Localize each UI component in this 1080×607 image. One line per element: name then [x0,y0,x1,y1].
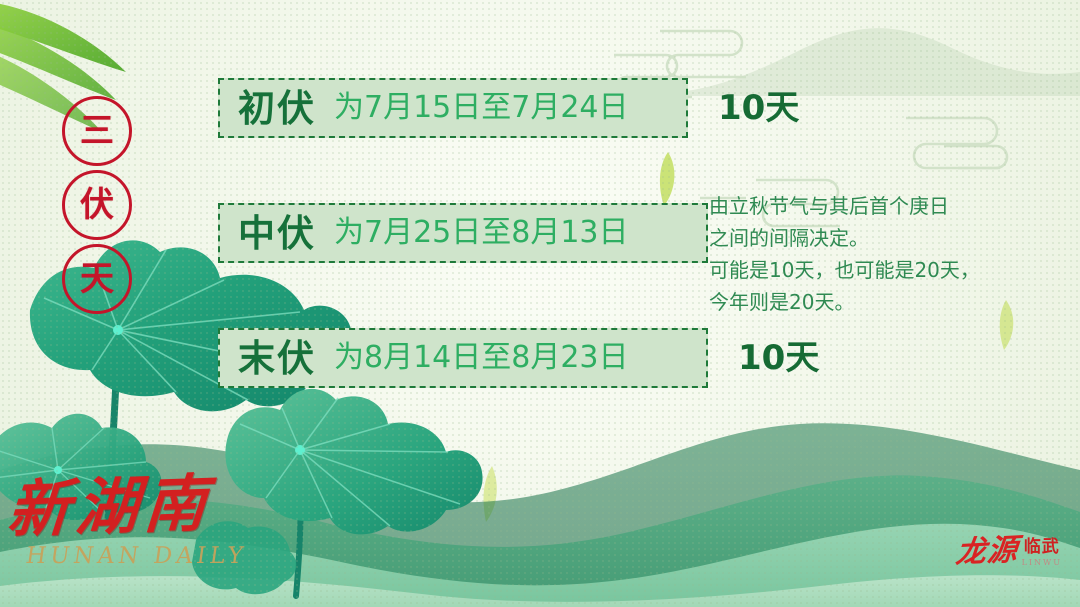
watermark-en-text: HUNAN DAILY [24,543,270,569]
watermark-longyuan-text: 龙源 [954,535,1019,568]
period-chip-chufu: 初伏 为7月15日至7月24日 [218,78,688,138]
note-line: 之间的间隔决定。 [709,222,1039,254]
watermark-longyuan-linwu: 龙源 临武 LINWU [956,537,1062,567]
seal-char-2: 伏 [62,170,132,240]
period-duration: 10天 [738,341,819,375]
period-row: 末伏 为8月14日至8月23日 10天 [218,328,1058,388]
period-row: 初伏 为7月15日至7月24日 10天 [218,78,1058,138]
period-term: 初伏 [238,90,316,127]
watermark-cn-text: 新湖南 [5,470,270,541]
note-line: 可能是10天，也可能是20天， [709,254,1039,286]
explanation-note: 由立秋节气与其后首个庚日 之间的间隔决定。 可能是10天，也可能是20天， 今年… [709,190,1039,318]
period-term: 末伏 [238,340,316,377]
period-range: 为8月14日至8月23日 [334,343,629,373]
seal-char-1: 三 [62,96,132,166]
note-line: 今年则是20天。 [709,286,1039,318]
period-term: 中伏 [238,215,316,252]
watermark-linwu-stack: 临武 LINWU [1022,539,1062,567]
seal-char-3: 天 [62,244,132,314]
sanfutian-seal: 三 伏 天 [62,96,132,314]
watermark-linwu-en: LINWU [1022,558,1062,567]
period-chip-zhongfu: 中伏 为7月25日至8月13日 [218,203,708,263]
period-range: 为7月15日至7月24日 [334,93,629,123]
note-line: 由立秋节气与其后首个庚日 [709,190,1039,222]
watermark-hunan-daily: 新湖南 HUNAN DAILY [8,475,268,595]
period-chip-mofu: 末伏 为8月14日至8月23日 [218,328,708,388]
period-duration: 10天 [718,91,799,125]
poster-canvas: 三 伏 天 初伏 为7月15日至7月24日 10天 中伏 为7月25日至8月13… [0,0,1080,607]
period-range: 为7月25日至8月13日 [334,218,629,248]
watermark-linwu-cn: 临武 [1024,539,1060,556]
